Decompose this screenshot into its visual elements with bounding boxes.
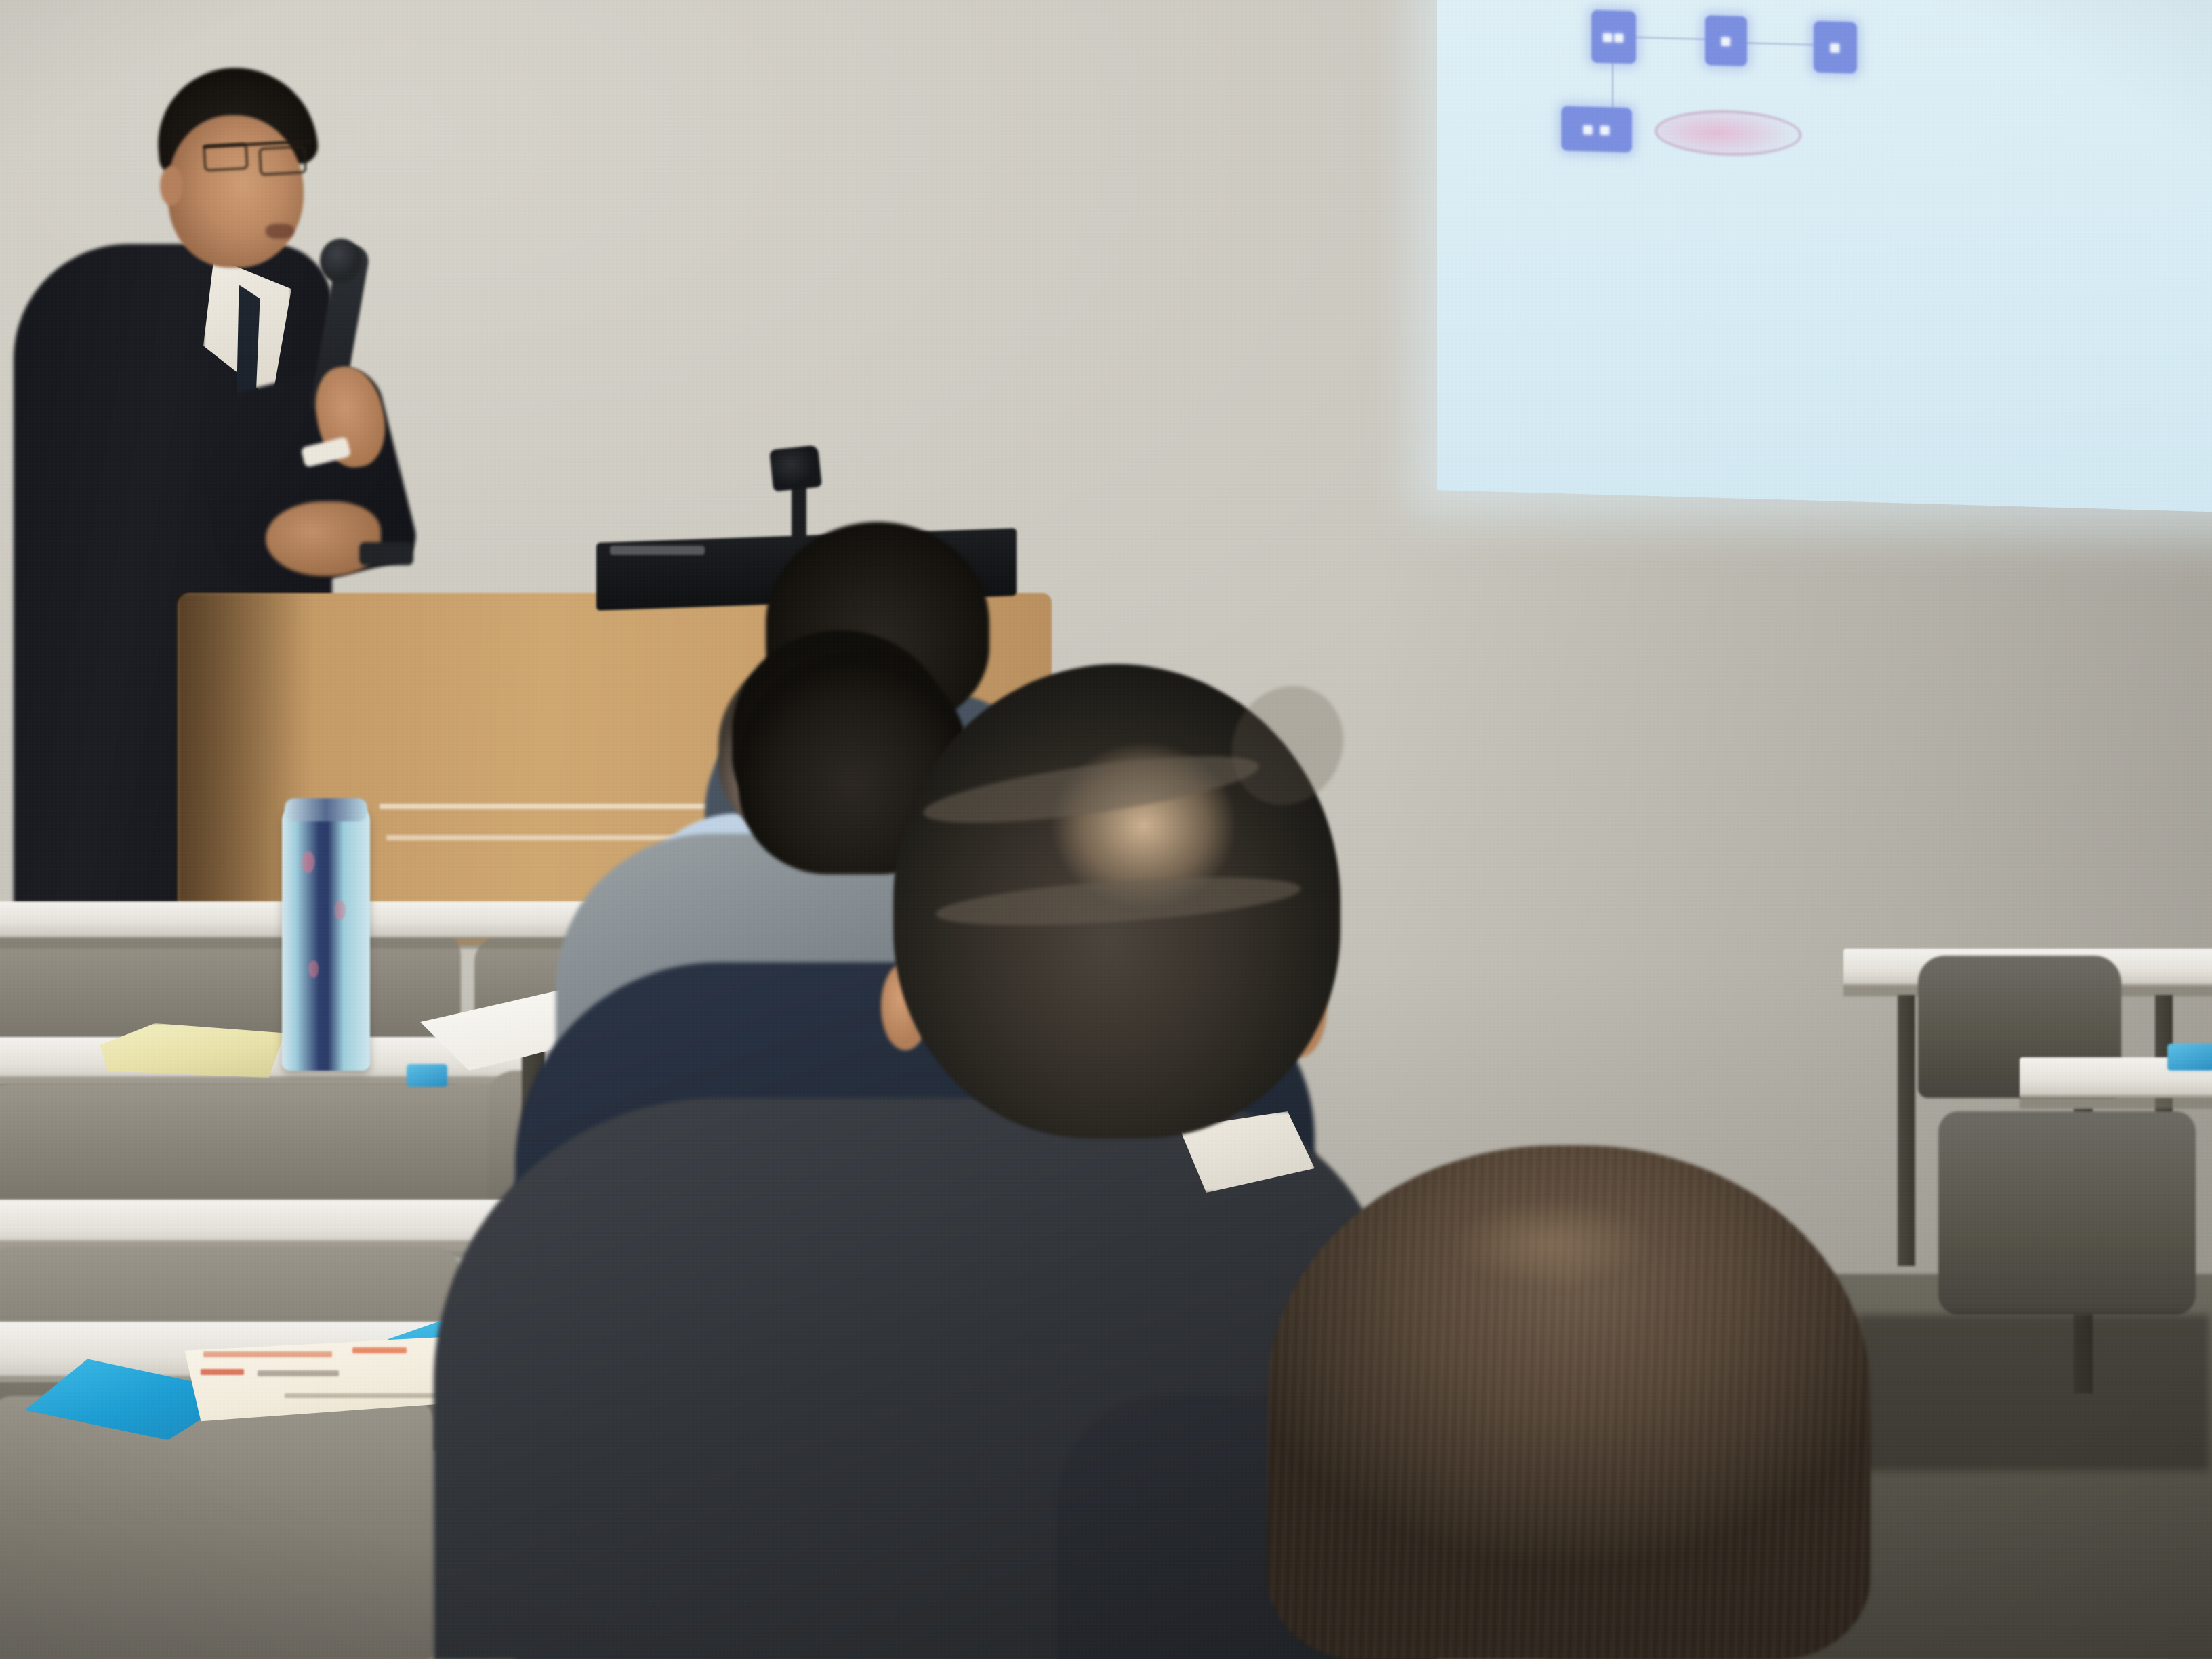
table-leg bbox=[1898, 995, 1915, 1266]
slide-connector-line bbox=[1746, 42, 1815, 46]
microphone-head bbox=[320, 239, 362, 283]
presenter-ear bbox=[160, 166, 183, 205]
slide-box-3: ■ bbox=[1814, 21, 1857, 74]
slide-connector-line bbox=[1612, 62, 1614, 108]
slide-box-2: ■ bbox=[1705, 15, 1747, 66]
hair-highlight bbox=[1410, 1179, 1694, 1308]
thermos-bottle bbox=[282, 803, 370, 1071]
slide-highlight-oval bbox=[1655, 108, 1801, 157]
slide-box-1: ■■ bbox=[1591, 10, 1636, 64]
leaflet-text-line bbox=[201, 1369, 244, 1375]
leaflet-text-line bbox=[285, 1393, 441, 1398]
floor-shadow bbox=[1857, 1315, 2209, 1471]
slide-box-2-label: ■ bbox=[1721, 32, 1732, 49]
slide-connector-line bbox=[1635, 36, 1706, 40]
leaflet-text-line bbox=[258, 1370, 339, 1376]
projected-slide: ■■ ■ ■ ■ ■ bbox=[1437, 0, 2212, 513]
leaflet-text-line bbox=[352, 1347, 407, 1353]
presenter-face bbox=[168, 115, 304, 268]
slide-box-4-label: ■ ■ bbox=[1582, 120, 1611, 138]
chair-left-front-lower bbox=[0, 1396, 434, 1659]
slide-box-1-label: ■■ bbox=[1602, 28, 1624, 46]
handheld-object bbox=[359, 542, 413, 565]
leaflet-text-line bbox=[203, 1351, 332, 1357]
blue-object-on-table bbox=[407, 1064, 447, 1087]
table-edge bbox=[2020, 1095, 2212, 1109]
thermos-bottle-cap bbox=[285, 798, 367, 821]
slide-box-3-label: ■ bbox=[1830, 38, 1841, 56]
blue-object-on-table bbox=[2167, 1044, 2212, 1071]
chair-right-front bbox=[1938, 1111, 2196, 1315]
slide-box-4: ■ ■ bbox=[1561, 106, 1632, 152]
photograph-seminar-room: ■■ ■ ■ ■ ■ bbox=[0, 0, 2212, 1659]
camera-icon bbox=[769, 445, 822, 491]
projection-screen: ■■ ■ ■ ■ ■ bbox=[1437, 0, 2212, 513]
presenter-mouth bbox=[266, 224, 294, 239]
laptop-highlight bbox=[610, 546, 705, 555]
